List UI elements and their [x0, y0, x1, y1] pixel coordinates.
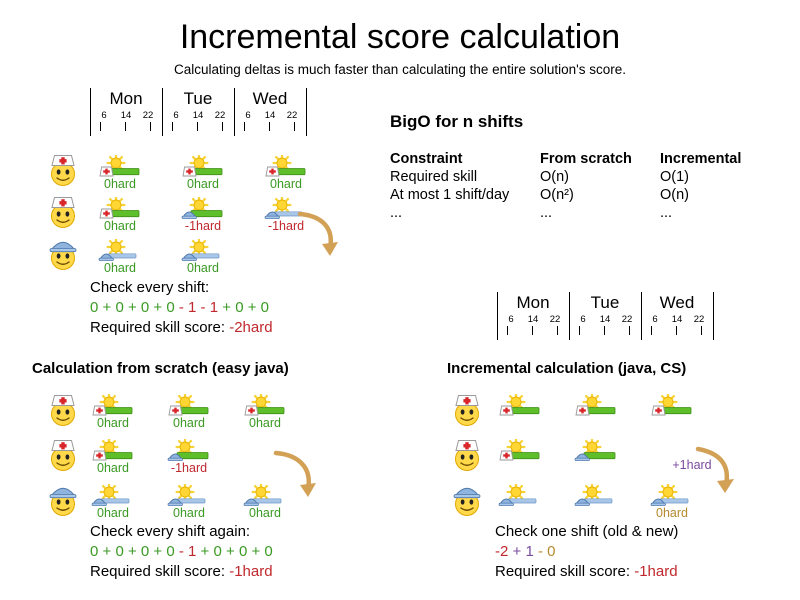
top-summary-block: Check every shift: 0 + 0 + 0 + 0 - 1 - 1… — [90, 278, 273, 338]
bl-score-value: -1hard — [229, 563, 272, 580]
timeline-ruler-bottom: Mon61422Tue61422Wed61422 — [497, 292, 713, 340]
timeline-hour-label: 14 — [668, 314, 686, 326]
timeline-tick — [269, 122, 270, 131]
shift-score-label: 0hard — [656, 506, 688, 520]
timeline-hour-label: 6 — [95, 110, 113, 122]
shift-score-label: 0hard — [187, 261, 219, 275]
blue-worker-shift-icon[interactable] — [573, 484, 619, 514]
timeline-hours: 61422 — [497, 314, 569, 326]
sum-token: + — [244, 299, 261, 316]
timeline-tick — [222, 122, 223, 131]
day-nurse-shift-icon[interactable]: 0hard — [97, 197, 143, 227]
sum-token: 0 — [235, 299, 243, 316]
timeline-tick — [604, 326, 605, 335]
day-nurse-shift-icon[interactable]: 0hard — [180, 155, 226, 185]
sum-token: + — [196, 543, 213, 560]
timeline-hour-label: 14 — [117, 110, 135, 122]
bigo-cell: Required skill — [390, 168, 540, 186]
bigo-cell: ... — [390, 204, 540, 222]
sum-token: 0 — [214, 543, 222, 560]
shift-score-label: 0hard — [97, 461, 129, 475]
nurse-avatar-icon — [48, 392, 78, 426]
day-nurse-shift-icon[interactable]: 0hard — [97, 155, 143, 185]
timeline-ticks — [569, 326, 641, 336]
br-sum-expression: -2 + 1 - 0 — [495, 542, 678, 562]
timeline-days: Mon61422Tue61422Wed61422 — [497, 292, 713, 336]
sum-token: - — [196, 299, 209, 316]
nurse-avatar-icon — [452, 392, 482, 426]
timeline-tick — [100, 122, 101, 131]
bottom-left-heading: Calculation from scratch (easy java) — [32, 360, 289, 377]
timeline-hours: 61422 — [234, 110, 306, 122]
day-worker-shift-icon[interactable]: -1hard — [180, 197, 226, 227]
timeline-ticks — [497, 326, 569, 336]
bigo-cell: ... — [540, 204, 660, 222]
timeline-ruler-top: Mon61422Tue61422Wed61422 — [90, 88, 306, 136]
shift-score-label: 0hard — [97, 416, 129, 430]
timeline-day-wed: Wed61422 — [234, 88, 306, 132]
br-score-value: -1hard — [634, 563, 677, 580]
br-score-label: Required skill score: — [495, 563, 634, 580]
timeline-hour-label: 6 — [167, 110, 185, 122]
bigo-cell: O(n) — [540, 168, 660, 186]
page-title: Incremental score calculation — [0, 18, 800, 57]
timeline-separator — [569, 292, 570, 340]
timeline-day-wed: Wed61422 — [641, 292, 713, 336]
timeline-hour-label: 22 — [618, 314, 636, 326]
timeline-separator — [234, 88, 235, 136]
top-score-line: Required skill score: -2hard — [90, 318, 273, 338]
bl-score-label: Required skill score: — [90, 563, 229, 580]
timeline-hour-label: 22 — [211, 110, 229, 122]
bigo-title: BigO for n shifts — [390, 112, 741, 132]
blue-worker-shift-icon[interactable] — [497, 484, 543, 514]
day-nurse-shift-icon[interactable] — [649, 394, 695, 424]
bigo-table-row: ......... — [390, 204, 741, 222]
reassign-arrow-icon-top — [296, 208, 344, 264]
day-nurse-shift-icon[interactable]: 0hard — [90, 439, 136, 469]
br-score-line: Required skill score: -1hard — [495, 562, 678, 582]
shift-score-label: -1hard — [185, 219, 221, 233]
sum-token: + — [149, 299, 166, 316]
bigo-table-row: At most 1 shift/dayO(n²)O(n) — [390, 186, 741, 204]
bigo-cell: O(n²) — [540, 186, 660, 204]
timeline-separator — [90, 88, 91, 136]
worker-avatar-icon — [48, 236, 78, 270]
timeline-tick — [676, 326, 677, 335]
page-subtitle: Calculating deltas is much faster than c… — [0, 62, 800, 77]
day-nurse-shift-icon[interactable]: 0hard — [242, 394, 288, 424]
reassign-arrow-icon-bottom-right — [692, 443, 742, 501]
worker-avatar-icon — [452, 482, 482, 516]
blue-worker-shift-icon[interactable]: 0hard — [90, 484, 136, 514]
shift-score-label: 0hard — [104, 261, 136, 275]
timeline-day-tue: Tue61422 — [162, 88, 234, 132]
timeline-tick — [172, 122, 173, 131]
timeline-tick — [125, 122, 126, 131]
sum-token: + — [98, 299, 115, 316]
timeline-day-label: Wed — [641, 292, 713, 314]
bl-sum-expression: 0 + 0 + 0 + 0 - 1 + 0 + 0 + 0 — [90, 542, 273, 562]
blue-worker-shift-icon[interactable]: 0hard — [180, 239, 226, 269]
timeline-hour-label: 6 — [574, 314, 592, 326]
nurse-avatar-icon — [48, 194, 78, 228]
sum-token: + — [149, 543, 166, 560]
sum-token: + — [222, 543, 239, 560]
sum-token: 0 — [166, 299, 174, 316]
timeline-hours: 61422 — [90, 110, 162, 122]
timeline-hour-label: 6 — [502, 314, 520, 326]
bigo-header-1: From scratch — [540, 150, 660, 168]
bigo-cell: O(1) — [660, 168, 741, 186]
top-check-label: Check every shift: — [90, 278, 273, 298]
timeline-ticks — [90, 122, 162, 132]
worker-avatar-icon — [48, 482, 78, 516]
timeline-tick — [579, 326, 580, 335]
nurse-avatar-icon — [452, 437, 482, 471]
blue-worker-shift-icon[interactable]: 0hard — [166, 484, 212, 514]
day-worker-shift-icon[interactable]: -1hard — [166, 439, 212, 469]
timeline-separator — [306, 88, 307, 136]
shift-score-label: 0hard — [104, 219, 136, 233]
timeline-day-mon: Mon61422 — [497, 292, 569, 336]
day-nurse-shift-icon[interactable]: 0hard — [166, 394, 212, 424]
timeline-hour-label: 22 — [139, 110, 157, 122]
reassign-arrow-icon-bottom-left — [272, 447, 324, 505]
timeline-day-label: Mon — [90, 88, 162, 110]
timeline-hour-label: 22 — [690, 314, 708, 326]
shift-score-label: 0hard — [187, 177, 219, 191]
sum-token: + — [247, 543, 264, 560]
sum-token: 1 — [525, 543, 533, 560]
sum-token: 0 — [166, 543, 174, 560]
timeline-hour-label: 6 — [239, 110, 257, 122]
sum-token: + — [218, 299, 235, 316]
bigo-header-0: Constraint — [390, 150, 540, 168]
top-sum-expression: 0 + 0 + 0 + 0 - 1 - 1 + 0 + 0 — [90, 298, 273, 318]
timeline-tick — [629, 326, 630, 335]
timeline-tick — [701, 326, 702, 335]
bigo-table-header-row: ConstraintFrom scratchIncremental — [390, 150, 741, 168]
bl-score-line: Required skill score: -1hard — [90, 562, 273, 582]
timeline-separator — [162, 88, 163, 136]
bigo-header-2: Incremental — [660, 150, 741, 168]
blue-worker-shift-icon[interactable]: 0hard — [97, 239, 143, 269]
timeline-day-label: Mon — [497, 292, 569, 314]
timeline-tick — [507, 326, 508, 335]
timeline-days: Mon61422Tue61422Wed61422 — [90, 88, 306, 132]
timeline-day-label: Tue — [569, 292, 641, 314]
timeline-hours: 61422 — [569, 314, 641, 326]
timeline-ticks — [234, 122, 306, 132]
timeline-tick — [557, 326, 558, 335]
day-nurse-shift-icon[interactable]: 0hard — [90, 394, 136, 424]
timeline-hour-label: 14 — [189, 110, 207, 122]
top-score-value: -2hard — [229, 319, 272, 336]
bigo-cell: ... — [660, 204, 741, 222]
nurse-avatar-icon — [48, 437, 78, 471]
timeline-tick — [197, 122, 198, 131]
timeline-ticks — [162, 122, 234, 132]
timeline-hour-label: 14 — [261, 110, 279, 122]
timeline-day-label: Tue — [162, 88, 234, 110]
bigo-table: ConstraintFrom scratchIncremental Requir… — [390, 150, 741, 222]
top-score-label: Required skill score: — [90, 319, 229, 336]
sum-token: + — [508, 543, 525, 560]
sum-token: - — [175, 299, 188, 316]
bigo-cell: O(n) — [660, 186, 741, 204]
sum-token: + — [124, 543, 141, 560]
day-nurse-shift-icon[interactable] — [497, 394, 543, 424]
sum-token: 0 — [141, 543, 149, 560]
timeline-hour-label: 14 — [524, 314, 542, 326]
br-check-label: Check one shift (old & new) — [495, 522, 678, 542]
day-nurse-shift-icon[interactable] — [573, 394, 619, 424]
bottom-right-summary-block: Check one shift (old & new) -2 + 1 - 0 R… — [495, 522, 678, 582]
timeline-hours: 61422 — [162, 110, 234, 122]
sum-token: + — [124, 299, 141, 316]
sum-token: 0 — [115, 543, 123, 560]
sum-token: 1 — [210, 299, 218, 316]
bigo-cell: At most 1 shift/day — [390, 186, 540, 204]
blue-worker-shift-icon[interactable]: 0hard — [649, 484, 695, 514]
timeline-tick — [651, 326, 652, 335]
timeline-tick — [150, 122, 151, 131]
sum-token: -2 — [495, 543, 508, 560]
sum-token: + — [98, 543, 115, 560]
sum-token: 0 — [547, 543, 555, 560]
day-nurse-shift-icon[interactable]: 0hard — [263, 155, 309, 185]
shift-score-label: 0hard — [97, 506, 129, 520]
bigo-table-row: Required skillO(n)O(1) — [390, 168, 741, 186]
bigo-table-body: Required skillO(n)O(1)At most 1 shift/da… — [390, 168, 741, 222]
shift-score-label: 0hard — [173, 416, 205, 430]
sum-token: - — [534, 543, 547, 560]
shift-score-label: 0hard — [249, 416, 281, 430]
timeline-tick — [294, 122, 295, 131]
timeline-hour-label: 22 — [546, 314, 564, 326]
bottom-left-summary-block: Check every shift again: 0 + 0 + 0 + 0 -… — [90, 522, 273, 582]
sum-token: 0 — [261, 299, 269, 316]
timeline-separator — [713, 292, 714, 340]
shift-score-label: 0hard — [270, 177, 302, 191]
bottom-right-heading: Incremental calculation (java, CS) — [447, 360, 686, 377]
shift-score-label: 0hard — [104, 177, 136, 191]
timeline-day-mon: Mon61422 — [90, 88, 162, 132]
day-nurse-shift-icon[interactable] — [497, 439, 543, 469]
day-worker-shift-icon[interactable] — [573, 439, 619, 469]
timeline-ticks — [641, 326, 713, 336]
shift-score-label: 0hard — [249, 506, 281, 520]
timeline-hours: 61422 — [641, 314, 713, 326]
nurse-avatar-icon — [48, 152, 78, 186]
timeline-hour-label: 14 — [596, 314, 614, 326]
shift-score-label: -1hard — [171, 461, 207, 475]
timeline-separator — [497, 292, 498, 340]
timeline-day-label: Wed — [234, 88, 306, 110]
timeline-tick — [532, 326, 533, 335]
timeline-hour-label: 6 — [646, 314, 664, 326]
timeline-hour-label: 22 — [283, 110, 301, 122]
timeline-tick — [244, 122, 245, 131]
shift-score-label: 0hard — [173, 506, 205, 520]
timeline-separator — [641, 292, 642, 340]
bl-check-label: Check every shift again: — [90, 522, 273, 542]
sum-token: - — [175, 543, 188, 560]
timeline-day-tue: Tue61422 — [569, 292, 641, 336]
sum-token: 0 — [141, 299, 149, 316]
sum-token: 0 — [115, 299, 123, 316]
sum-token: 0 — [264, 543, 272, 560]
